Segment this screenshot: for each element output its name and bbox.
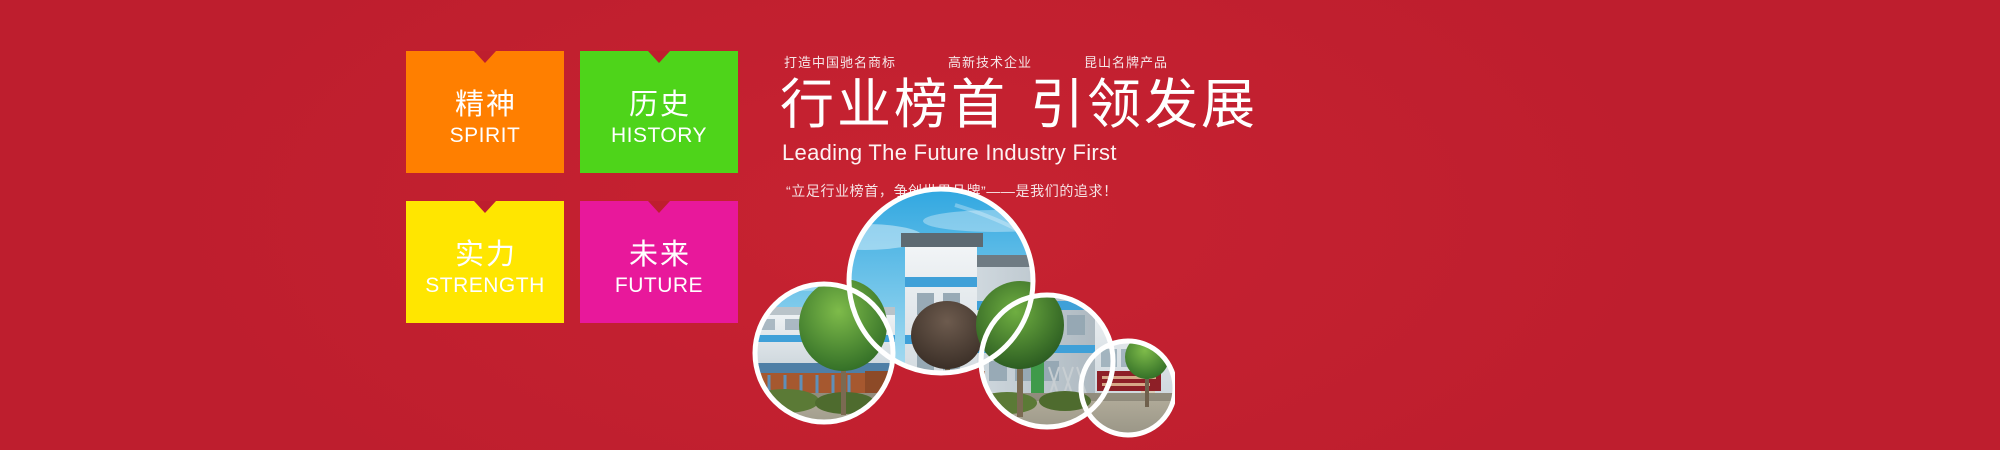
factory-photo-cloud bbox=[745, 185, 1175, 450]
tile-history[interactable]: 历史 HISTORY bbox=[580, 51, 738, 173]
tile-label-en: FUTURE bbox=[615, 273, 703, 298]
notch-icon bbox=[648, 51, 670, 63]
photo-content bbox=[745, 185, 1175, 450]
tile-label-cn: 历史 bbox=[627, 90, 691, 121]
notch-icon bbox=[648, 201, 670, 213]
value-tile-grid: 精神 SPIRIT 历史 HISTORY 实力 STRENGTH 未来 FUTU… bbox=[406, 51, 720, 323]
badge-brand: 昆山名牌产品 bbox=[1084, 52, 1168, 71]
headline-part-right: 引领发展 bbox=[1030, 75, 1258, 135]
tile-spirit[interactable]: 精神 SPIRIT bbox=[406, 51, 564, 173]
tile-label-cn: 实力 bbox=[453, 240, 517, 271]
page-subtitle: Leading The Future Industry First bbox=[780, 139, 1400, 168]
notch-icon bbox=[474, 201, 496, 213]
badge-trademark: 打造中国驰名商标 bbox=[784, 52, 896, 71]
headline-part-left: 行业榜首 bbox=[780, 75, 1008, 135]
headline-block: 打造中国驰名商标 高新技术企业 昆山名牌产品 行业榜首引领发展 Leading … bbox=[780, 52, 1400, 202]
tile-label-en: HISTORY bbox=[611, 123, 707, 148]
tile-future[interactable]: 未来 FUTURE bbox=[580, 201, 738, 323]
promo-banner: 精神 SPIRIT 历史 HISTORY 实力 STRENGTH 未来 FUTU… bbox=[0, 0, 2000, 450]
tree-mid-dark bbox=[911, 301, 983, 415]
tile-label-en: SPIRIT bbox=[450, 123, 521, 148]
badge-row: 打造中国驰名商标 高新技术企业 昆山名牌产品 bbox=[780, 52, 1400, 71]
notch-icon bbox=[474, 51, 496, 63]
tile-label-cn: 未来 bbox=[627, 240, 691, 271]
page-title: 行业榜首引领发展 bbox=[780, 75, 1400, 135]
badge-hightech: 高新技术企业 bbox=[948, 52, 1032, 71]
tile-label-cn: 精神 bbox=[453, 90, 517, 121]
tile-strength[interactable]: 实力 STRENGTH bbox=[406, 201, 564, 323]
tile-label-en: STRENGTH bbox=[425, 273, 545, 298]
